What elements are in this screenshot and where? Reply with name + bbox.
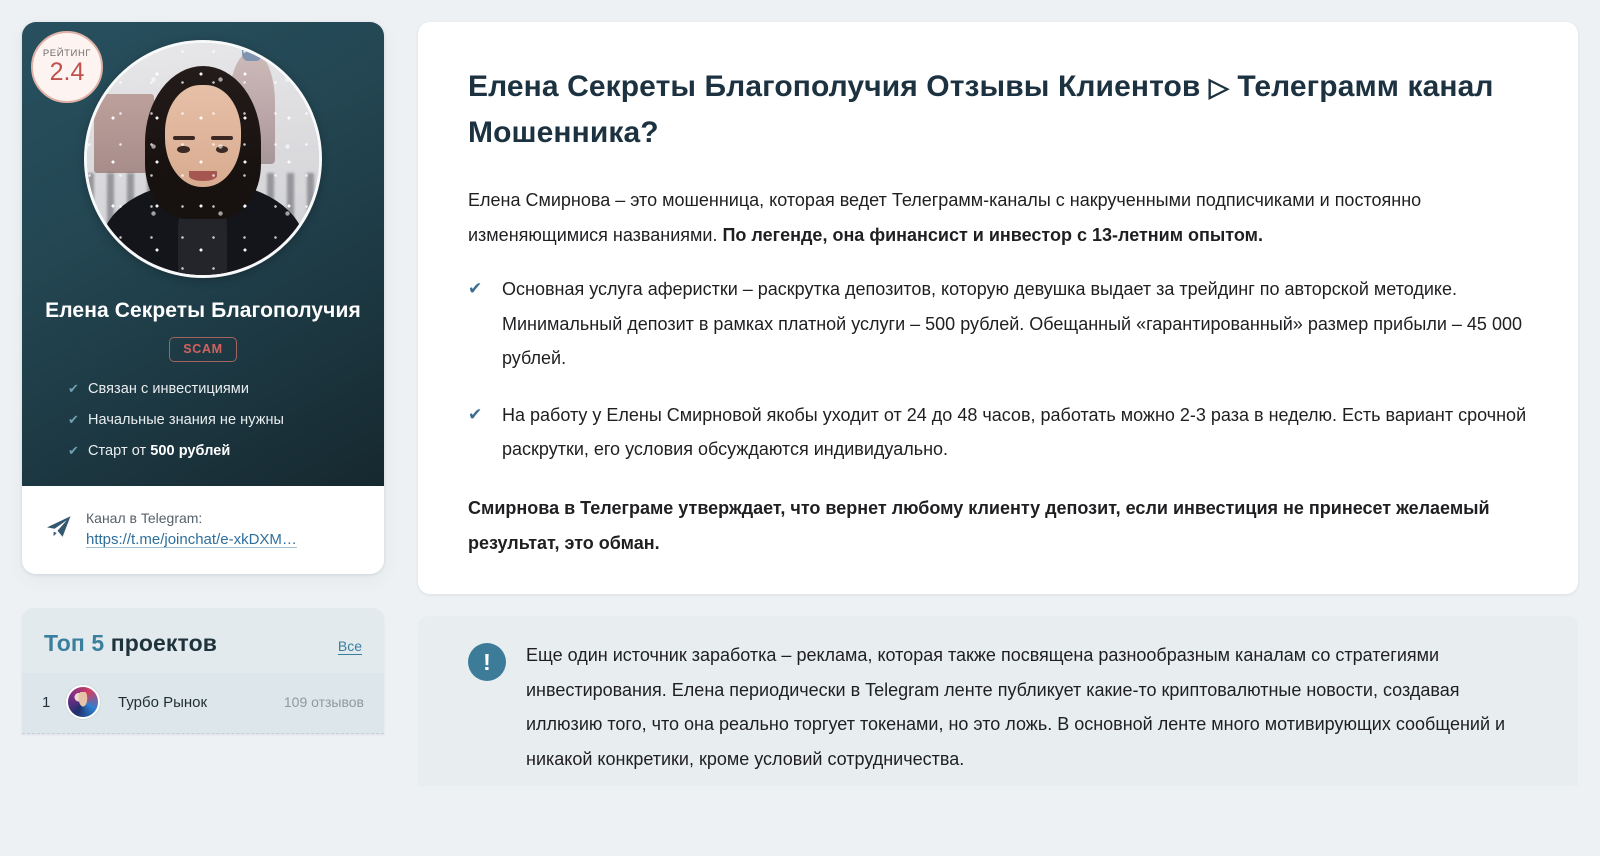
profile-name: Елена Секреты Благополучия bbox=[42, 296, 364, 326]
feature-label: Старт от 500 рублей bbox=[88, 444, 230, 460]
telegram-caption: Канал в Telegram: bbox=[86, 510, 202, 526]
feature-item: ✔ Старт от 500 рублей bbox=[68, 444, 364, 460]
list-item[interactable]: 1 Турбо Рынок 109 отзывов bbox=[22, 673, 384, 734]
bullet-text: Основная услуга аферистки – раскрутка де… bbox=[502, 272, 1530, 376]
closing-paragraph-text: Смирнова в Телеграме утверждает, что вер… bbox=[468, 498, 1490, 553]
status-badge: SCAM bbox=[169, 337, 237, 362]
bullet-text: На работу у Елены Смирновой якобы уходит… bbox=[502, 398, 1530, 467]
page-title: Елена Секреты Благополучия Отзывы Клиент… bbox=[468, 64, 1530, 155]
feature-list: ✔ Связан с инвестициями ✔ Начальные знан… bbox=[68, 382, 364, 460]
closing-paragraph: Смирнова в Телеграме утверждает, что вер… bbox=[468, 491, 1530, 560]
rating-value: 2.4 bbox=[50, 60, 85, 85]
page-title-line-1: Елена Секреты Благополучия Отзывы Клиент… bbox=[468, 70, 1200, 103]
page-root: РЕЙТИНГ 2.4 bbox=[0, 0, 1600, 856]
top-projects-all-link[interactable]: Все bbox=[338, 638, 362, 657]
article-card: Елена Секреты Благополучия Отзывы Клиент… bbox=[418, 22, 1578, 594]
intro-paragraph-emphasis: По легенде, она финансист и инвестор с 1… bbox=[722, 225, 1262, 245]
check-icon: ✔ bbox=[468, 272, 488, 376]
triangle-play-icon: ▷ bbox=[1209, 72, 1229, 102]
check-icon: ✔ bbox=[68, 444, 88, 458]
callout-text: Еще один источник заработка – реклама, к… bbox=[526, 638, 1530, 776]
telegram-text-group: Канал в Telegram: https://t.me/joinchat/… bbox=[86, 508, 297, 551]
telegram-paper-plane-icon bbox=[46, 515, 72, 543]
exclamation-mark-icon: ! bbox=[468, 643, 506, 681]
feature-label-prefix: Старт от bbox=[88, 443, 150, 459]
feature-item: ✔ Связан с инвестициями bbox=[68, 382, 364, 398]
check-icon: ✔ bbox=[468, 398, 488, 467]
intro-paragraph: Елена Смирнова – это мошенница, которая … bbox=[468, 183, 1530, 252]
bullet-list: ✔ Основная услуга аферистки – раскрутка … bbox=[468, 272, 1530, 467]
profile-hero: РЕЙТИНГ 2.4 bbox=[22, 22, 384, 486]
telegram-channel-row[interactable]: Канал в Telegram: https://t.me/joinchat/… bbox=[22, 486, 384, 575]
avatar-snow-overlay bbox=[87, 43, 319, 275]
sidebar: РЕЙТИНГ 2.4 bbox=[22, 22, 384, 734]
profile-card: РЕЙТИНГ 2.4 bbox=[22, 22, 384, 574]
main-content: Елена Секреты Благополучия Отзывы Клиент… bbox=[418, 22, 1578, 786]
check-icon: ✔ bbox=[68, 382, 88, 396]
telegram-channel-link[interactable]: https://t.me/joinchat/e-xkDXM… bbox=[86, 529, 297, 551]
list-item-name: Турбо Рынок bbox=[118, 694, 284, 711]
bullet-item: ✔ Основная услуга аферистки – раскрутка … bbox=[468, 272, 1530, 376]
list-item-review-count: 109 отзывов bbox=[284, 694, 364, 710]
feature-label: Начальные знания не нужны bbox=[88, 413, 284, 429]
bullet-item: ✔ На работу у Елены Смирновой якобы уход… bbox=[468, 398, 1530, 467]
top-projects-title: Топ 5 проектов bbox=[44, 630, 217, 657]
feature-label: Связан с инвестициями bbox=[88, 382, 249, 398]
list-item-avatar bbox=[66, 685, 100, 719]
rating-badge: РЕЙТИНГ 2.4 bbox=[31, 31, 103, 103]
check-icon: ✔ bbox=[68, 413, 88, 427]
avatar bbox=[84, 40, 322, 278]
top-projects-header: Топ 5 проектов Все bbox=[22, 608, 384, 673]
list-item-rank: 1 bbox=[42, 694, 66, 711]
top-projects-card: Топ 5 проектов Все 1 Турбо Рынок 109 отз… bbox=[22, 608, 384, 734]
top-projects-title-rest: проектов bbox=[104, 630, 217, 656]
feature-item: ✔ Начальные знания не нужны bbox=[68, 413, 364, 429]
info-callout: ! Еще один источник заработка – реклама,… bbox=[418, 616, 1578, 786]
feature-label-emphasis: 500 рублей bbox=[150, 443, 230, 459]
top-projects-title-accent: Топ 5 bbox=[44, 630, 104, 656]
